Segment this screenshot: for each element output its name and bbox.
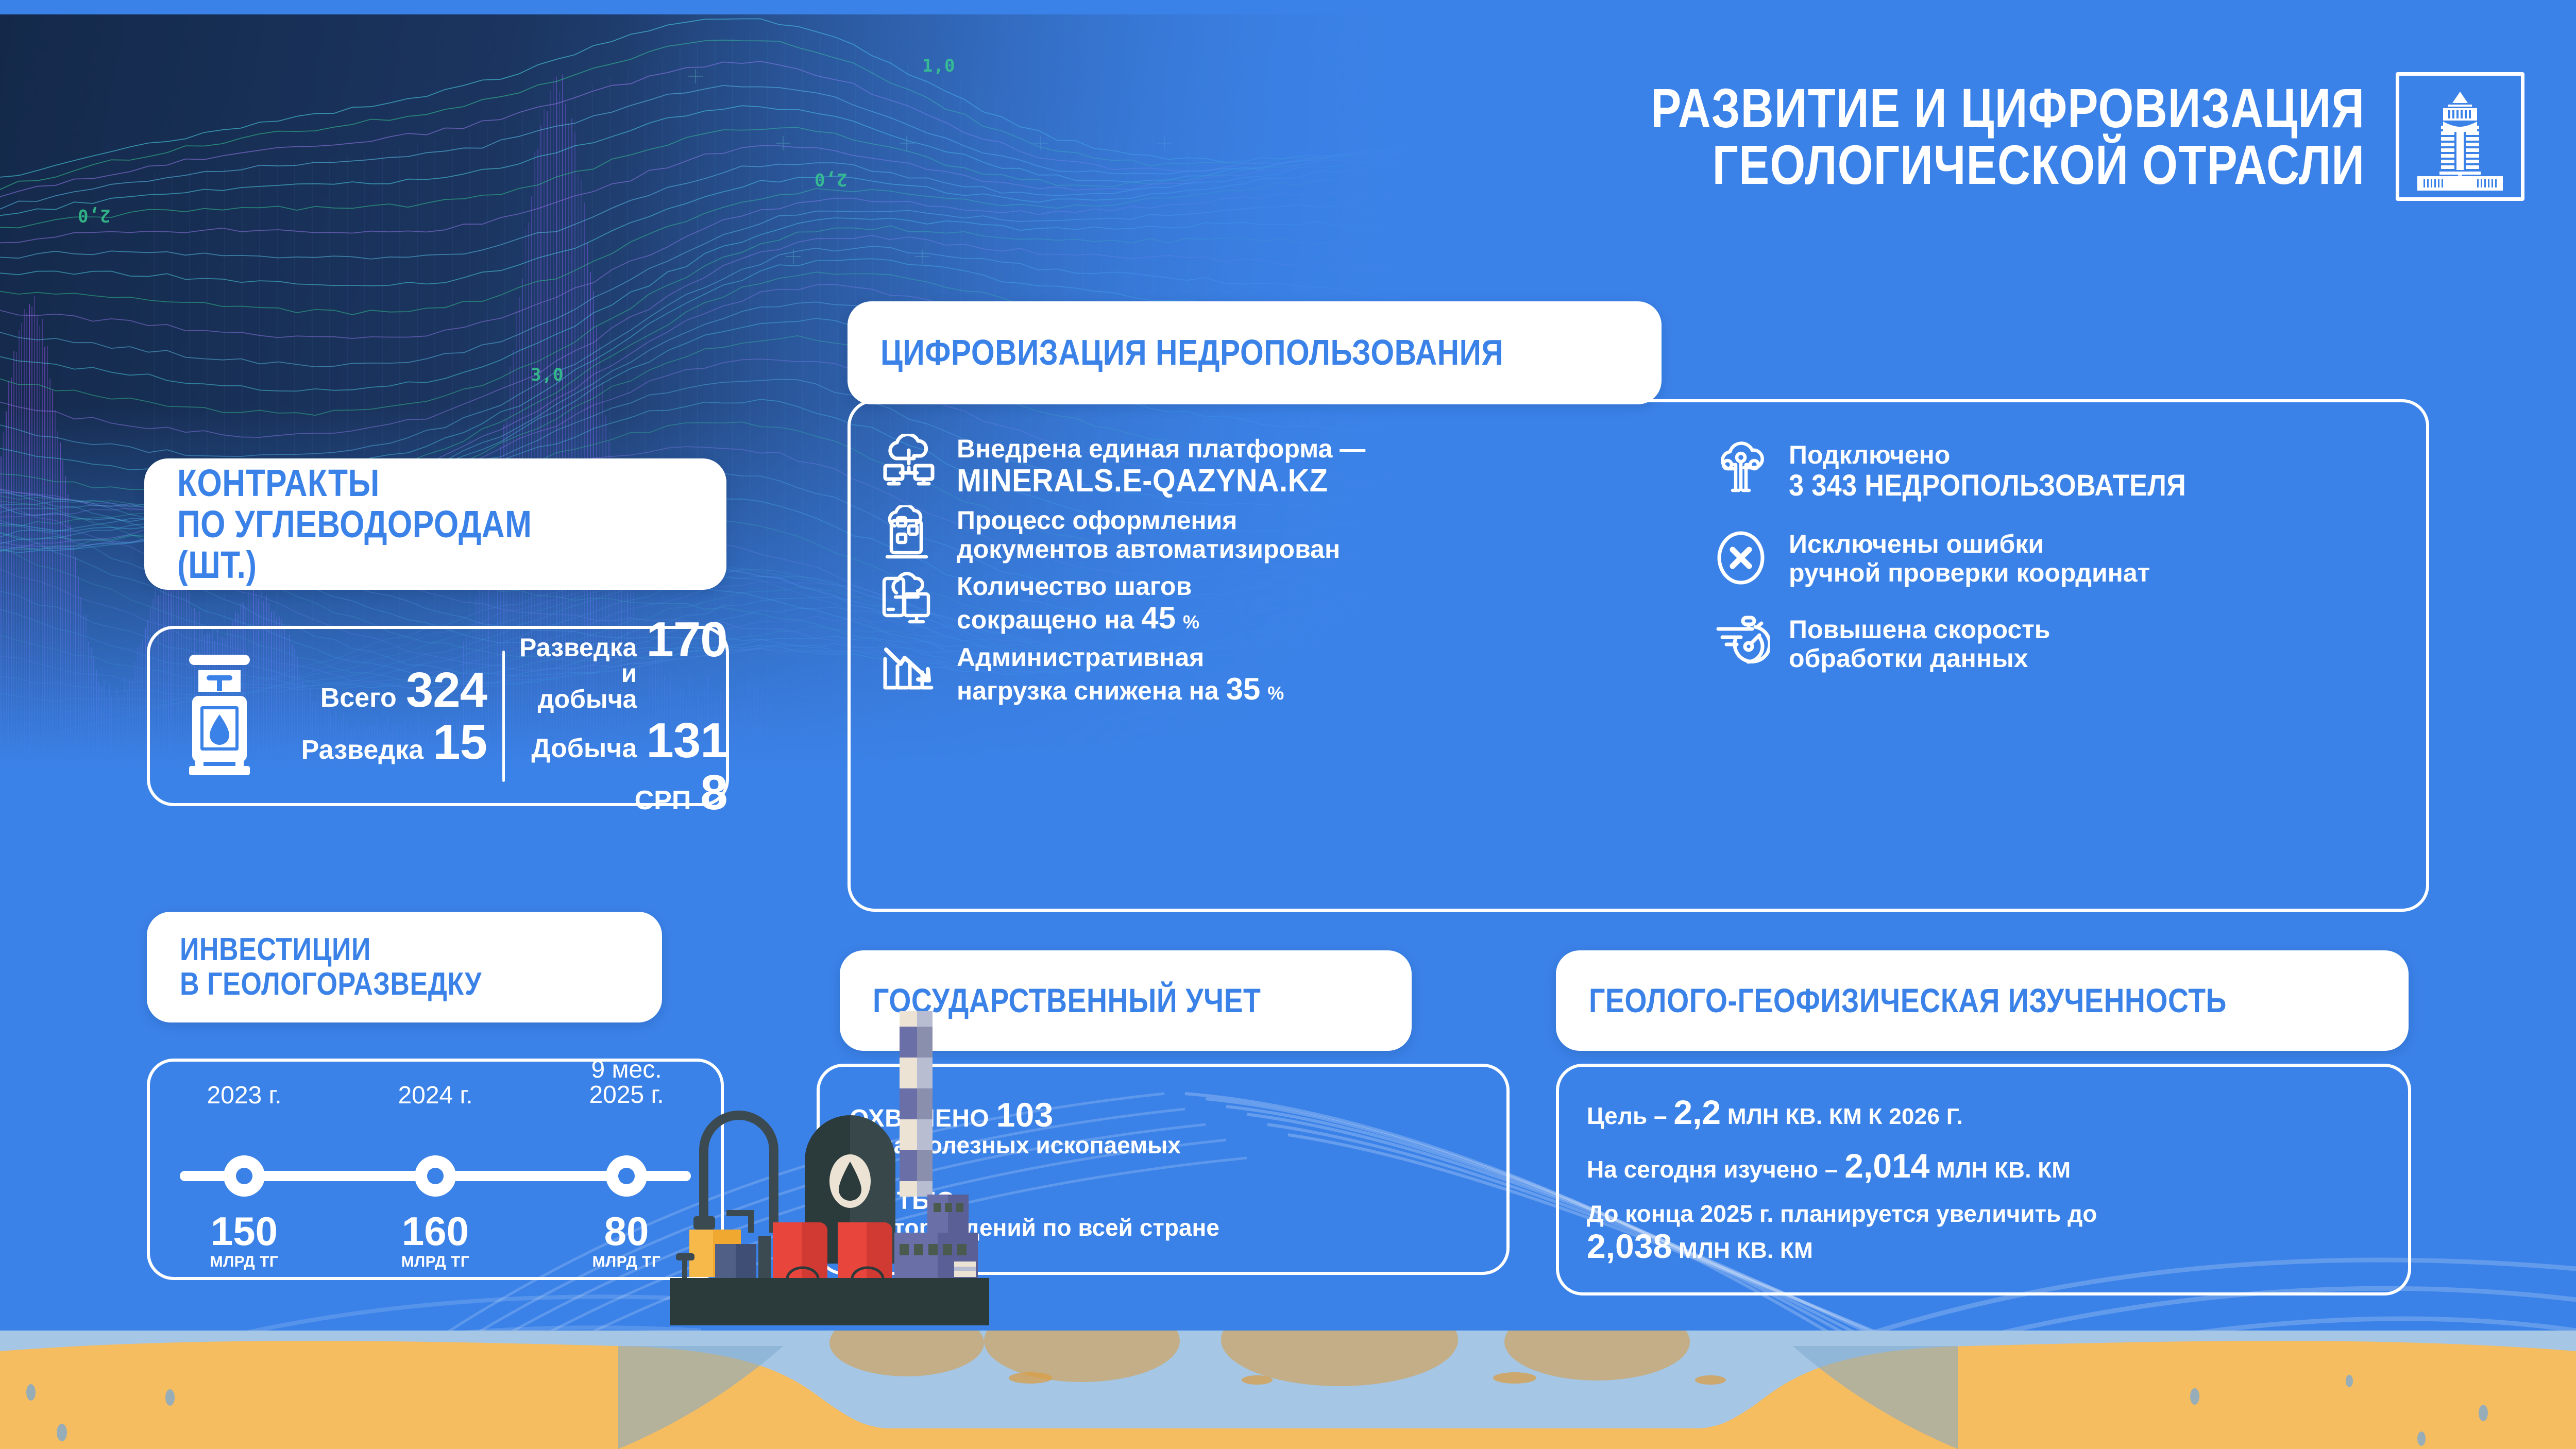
digitalization-right-column: Подключено 3 343 НЕДРОПОЛЬЗОВАТЕЛЯ Исклю… (1699, 432, 2398, 888)
geo-study-row: На сегодня изучено – 2,014 МЛН КВ. КМ (1587, 1147, 2380, 1185)
contracts-title-main: КОНТРАКТЫ (177, 462, 380, 504)
digitalization-line1: Административная (957, 643, 1204, 672)
digitalization-item: Подключено 3 343 НЕДРОПОЛЬЗОВАТЕЛЯ (1710, 438, 2398, 503)
digitalization-line1: Подключено (1789, 440, 1950, 469)
digitalization-line1: Повышена скорость (1789, 615, 2050, 644)
geo-study-prefix: Цель – (1587, 1102, 1667, 1129)
document-automation-icon (878, 504, 939, 565)
investments-title-card: ИНВЕСТИЦИИВ ГЕОЛОГОРАЗВЕДКУ (147, 912, 662, 1022)
digitalization-line1: Внедрена единая платформа — (957, 434, 1365, 463)
contracts-label: СРП (635, 787, 691, 814)
smokestack-icon (900, 1011, 933, 1197)
digitalization-item: Повышена скорость обработки данных (1710, 613, 2398, 674)
contracts-right-column: Разведка и добыча 170 Добыча 131 СРП 8 (519, 616, 727, 816)
digitalization-line2: сокращено на (957, 605, 1134, 634)
cloud-network-monitors-icon (878, 432, 939, 493)
digitalization-line2: ручной проверки координат (1789, 558, 2150, 587)
digitalization-item: Процесс оформления документов автоматизи… (878, 504, 1699, 565)
digitalization-item: Количество шагов сокращено на 45 % (878, 570, 1699, 635)
contracts-row: Разведка и добыча 170 (519, 616, 727, 712)
oil-gas-facility-illustration (608, 1011, 1010, 1372)
cloud-connections-icon (1710, 438, 1771, 499)
contracts-title: КОНТРАКТЫПО УГЛЕВОДОРОДАМ (ШТ.) (177, 463, 532, 586)
mesh-label: 3,0 (531, 365, 564, 385)
government-logo (2396, 72, 2524, 201)
contracts-data-card: Всего 324 Разведка 15 Разведка и добыча … (147, 626, 729, 806)
timeline-year: 2023 г. (180, 1083, 309, 1109)
page-title-line1: РАЗВИТИЕ И ЦИФРОВИЗАЦИЯ (1651, 77, 2365, 139)
digitalization-item-text: Исключены ошибки ручной проверки координ… (1789, 527, 2150, 587)
x-circle-icon (1710, 527, 1771, 588)
investments-title: ИНВЕСТИЦИИВ ГЕОЛОГОРАЗВЕДКУ (180, 933, 482, 1002)
digitalization-item-text: Процесс оформления документов автоматизи… (957, 504, 1340, 564)
contracts-figures: Всего 324 Разведка 15 Разведка и добыча … (281, 629, 740, 803)
digitalization-line1: Процесс оформления (957, 506, 1237, 535)
timeline-dot (224, 1155, 265, 1197)
geo-study-value: 2,038 (1587, 1227, 1672, 1265)
pipe-arch (704, 1115, 774, 1233)
contracts-title-unit: (ШТ.) (177, 543, 257, 586)
digitalization-item-text: Подключено 3 343 НЕДРОПОЛЬЗОВАТЕЛЯ (1789, 438, 2230, 503)
digitalization-item-text: Внедрена единая платформа — MINERALS.E-Q… (957, 432, 1365, 499)
digitalization-value: 35 (1226, 672, 1261, 706)
timeline-value: 150 (211, 1211, 278, 1251)
geo-study-suffix: МЛН КВ. КМ (1936, 1157, 2071, 1183)
digitalization-card: Внедрена единая платформа — MINERALS.E-Q… (848, 399, 2429, 912)
digitalization-percent-sign: % (1183, 611, 1199, 633)
mesh-label: 1,0 (922, 56, 955, 76)
geo-study-value: 2,2 (1673, 1093, 1721, 1131)
geo-study-value: 2,014 (1844, 1147, 1929, 1185)
digitalization-item-text: Количество шагов сокращено на 45 % (957, 570, 1199, 635)
refinery-blocks (894, 1195, 978, 1278)
timeline-point: 2023 г. 150 МЛРД ТГ (180, 1062, 309, 1277)
contracts-row: Разведка 15 (281, 719, 487, 765)
timeline-value: 160 (402, 1211, 469, 1251)
timeline-unit: МЛРД ТГ (210, 1253, 279, 1271)
contracts-value: 131 (646, 717, 727, 764)
mesh-label: 2,0 (77, 205, 110, 226)
contracts-label: Добыча (531, 735, 637, 762)
investments-title-line1: ИНВЕСТИЦИИ (180, 932, 371, 967)
geo-study-suffix: МЛН КВ. КМ К 2026 Г. (1727, 1104, 1963, 1129)
declining-chart-icon (878, 641, 939, 702)
mesh-label: 2,0 (814, 169, 847, 190)
devices-sync-icon (878, 570, 939, 630)
contracts-value: 170 (646, 616, 727, 663)
digitalization-line1: Исключены ошибки (1789, 530, 2044, 558)
contracts-label: Разведка (301, 737, 424, 763)
digitalization-line2: документов автоматизирован (957, 535, 1340, 564)
digitalization-left-column: Внедрена единая платформа — MINERALS.E-Q… (878, 432, 1699, 888)
digitalization-item: Административная нагрузка снижена на 35 … (878, 641, 1699, 706)
digitalization-item: Внедрена единая платформа — MINERALS.E-Q… (878, 432, 1699, 499)
geo-study-prefix: До конца 2025 г. планируется увеличить д… (1587, 1200, 2097, 1227)
contracts-title-second: ПО УГЛЕВОДОРОДАМ (177, 503, 532, 545)
geo-study-title-card: ГЕОЛОГО-ГЕОФИЗИЧЕСКАЯ ИЗУЧЕННОСТЬ (1556, 950, 2409, 1051)
timeline-unit: МЛРД ТГ (401, 1253, 470, 1271)
geo-study-prefix: На сегодня изучено – (1587, 1156, 1838, 1183)
digitalization-platform-url: MINERALS.E-QAZYNA.KZ (957, 463, 1328, 499)
digitalization-value: 45 (1141, 601, 1176, 635)
geo-study-suffix: МЛН КВ. КМ (1679, 1238, 1813, 1263)
geo-study-title: ГЕОЛОГО-ГЕОФИЗИЧЕСКАЯ ИЗУЧЕННОСТЬ (1589, 982, 2227, 1019)
digitalization-subsoil-users: 3 343 НЕДРОПОЛЬЗОВАТЕЛЯ (1789, 469, 2186, 503)
geo-study-card: Цель – 2,2 МЛН КВ. КМ К 2026 Г. На сегод… (1556, 1064, 2411, 1295)
contracts-row: Добыча 131 (519, 717, 727, 764)
government-building-icon (2411, 88, 2509, 193)
digitalization-title-card: ЦИФРОВИЗАЦИЯ НЕДРОПОЛЬЗОВАНИЯ (848, 301, 1662, 404)
contracts-label: Всего (320, 685, 397, 711)
contracts-row: СРП 8 (519, 769, 727, 816)
digitalization-item: Исключены ошибки ручной проверки координ… (1710, 527, 2398, 588)
digitalization-percent-sign: % (1267, 683, 1284, 704)
timeline-point: 2024 г. 160 МЛРД ТГ (371, 1062, 500, 1277)
page-title-line2: ГЕОЛОГИЧЕСКОЙ ОТРАСЛИ (1712, 133, 2365, 196)
digitalization-title: ЦИФРОВИЗАЦИЯ НЕДРОПОЛЬЗОВАНИЯ (880, 333, 1503, 372)
digitalization-line1: Количество шагов (957, 572, 1192, 601)
investments-title-line2: В ГЕОЛОГОРАЗВЕДКУ (180, 966, 482, 1002)
contracts-left-column: Всего 324 Разведка 15 (281, 667, 502, 765)
geo-study-row: До конца 2025 г. планируется увеличить д… (1587, 1201, 2380, 1265)
poster-header: РАЗВИТИЕ И ЦИФРОВИЗАЦИЯГЕОЛОГИЧЕСКОЙ ОТР… (1412, 57, 2524, 216)
contracts-label: Разведка и добыча (519, 635, 637, 712)
contracts-divider (502, 651, 505, 782)
digitalization-item-text: Административная нагрузка снижена на 35 … (957, 641, 1284, 706)
digitalization-item-text: Повышена скорость обработки данных (1789, 613, 2050, 673)
contracts-title-card: КОНТРАКТЫПО УГЛЕВОДОРОДАМ (ШТ.) (144, 458, 726, 590)
contracts-value: 324 (406, 667, 487, 713)
page-title: РАЗВИТИЕ И ЦИФРОВИЗАЦИЯГЕОЛОГИЧЕСКОЙ ОТР… (1651, 80, 2365, 193)
timeline-year: 2024 г. (371, 1083, 500, 1109)
infographic-poster: 2,0 3,0 4,0 2,0 1,0 (0, 0, 2576, 1449)
contracts-value: 15 (433, 719, 487, 765)
ground-strip (0, 1331, 2576, 1449)
stopwatch-speed-icon (1710, 613, 1771, 674)
gas-cylinder-icon (176, 651, 263, 782)
contracts-row: Всего 324 (281, 667, 487, 713)
platform-base (670, 1278, 989, 1325)
contracts-value: 8 (700, 769, 727, 816)
timeline-dot (415, 1155, 456, 1197)
digitalization-line2: нагрузка снижена на (957, 676, 1219, 705)
digitalization-line2: обработки данных (1789, 644, 2028, 673)
geo-study-row: Цель – 2,2 МЛН КВ. КМ К 2026 Г. (1587, 1094, 2380, 1132)
